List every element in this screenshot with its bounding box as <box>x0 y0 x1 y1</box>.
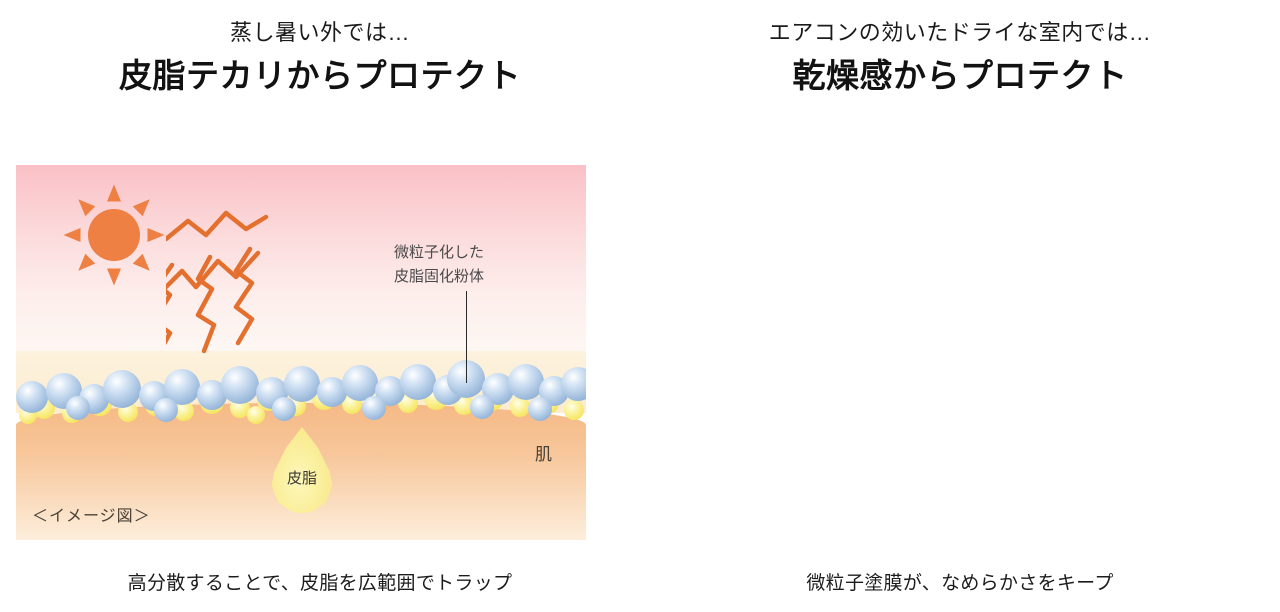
panel-subheading: エアコンの効いたドライな室内では… <box>640 18 1280 48</box>
heading-block-left: 蒸し暑い外では… 皮脂テカリからプロテクト <box>0 18 640 98</box>
callout-leader-line <box>466 291 467 383</box>
panel-heading: 乾燥感からプロテクト <box>640 54 1280 98</box>
sebum-drop-icon: 皮脂 <box>269 427 335 513</box>
callout-powder: 微粒子化した 皮脂固化粉体 <box>394 241 484 289</box>
sun-icon <box>62 183 166 287</box>
heat-wave-icon <box>166 191 356 371</box>
infographic-root: 蒸し暑い外では… 皮脂テカリからプロテクト <box>0 0 1280 612</box>
panel-heading: 皮脂テカリからプロテクト <box>0 54 640 98</box>
panel-hot-outdoor: 蒸し暑い外では… 皮脂テカリからプロテクト <box>0 0 640 612</box>
illustration-hot-outdoor: 皮脂 微粒子化した 皮脂固化粉体 肌 ＜イメージ図＞ <box>16 165 586 540</box>
sun-disc <box>88 209 140 261</box>
panel-caption: 高分散することで、皮脂を広範囲でトラップ <box>0 568 640 595</box>
panel-caption: 微粒子塗膜が、なめらかさをキープ <box>640 568 1280 595</box>
heading-block-right: エアコンの効いたドライな室内では… 乾燥感からプロテクト <box>640 18 1280 98</box>
panel-dry-indoor: エアコンの効いたドライな室内では… 乾燥感からプロテクト <box>640 0 1280 612</box>
sebum-drop-label: 皮脂 <box>269 467 335 488</box>
image-note: ＜イメージ図＞ <box>32 502 151 526</box>
skin-label: 肌 <box>535 440 552 465</box>
panel-subheading: 蒸し暑い外では… <box>0 18 640 48</box>
